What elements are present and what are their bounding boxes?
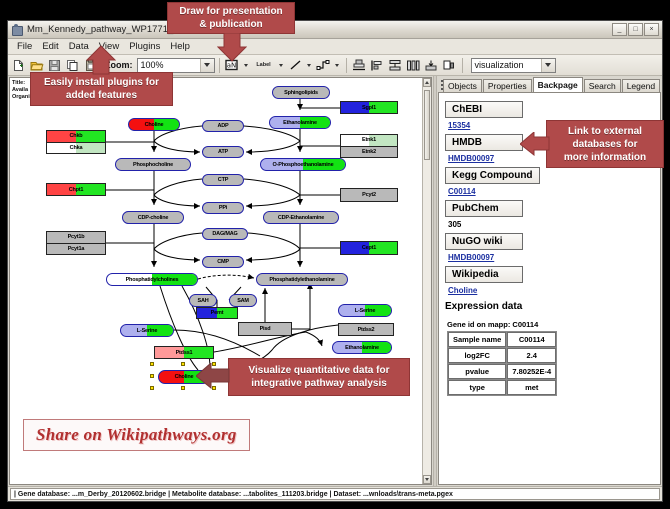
zoom-value: 100% <box>141 60 164 70</box>
node-label: SAM <box>237 298 249 304</box>
pathway-node-gene[interactable]: Ptdss2 <box>338 323 394 336</box>
scroll-down-icon[interactable] <box>423 475 431 484</box>
callout-visualize-arrow-icon <box>196 363 230 389</box>
panel-splitter[interactable] <box>433 76 437 486</box>
node-label: DAG/MAG <box>212 231 237 237</box>
node-label: Choline <box>145 122 164 128</box>
label-icon[interactable]: Label <box>252 57 276 74</box>
cell-key: log2FC <box>448 348 506 363</box>
menu-edit[interactable]: Edit <box>37 40 63 53</box>
pathway-node-metabolite[interactable]: L-Serine <box>120 324 174 337</box>
side-tabrow: Objects Properties Backpage Search Legen… <box>438 77 661 93</box>
gene-row[interactable]: Pcyt1b <box>47 232 105 244</box>
callout-visualize-line2: integrative pathway analysis <box>251 377 387 390</box>
window-titlebar: Mm_Kennedy_pathway_WP1771_45176.gpml _ □… <box>8 21 662 39</box>
db-link-wikipedia[interactable]: Choline <box>448 286 660 295</box>
callout-visualize: Visualize quantitative data for integrat… <box>228 358 410 396</box>
callout-share-text: Share on Wikipathways.org <box>36 425 237 444</box>
db-block-wikipedia: Wikipedia Choline <box>445 264 660 295</box>
tab-properties[interactable]: Properties <box>483 79 532 92</box>
align-left-icon[interactable] <box>369 57 386 74</box>
resize-handle[interactable] <box>181 386 185 390</box>
gene-label: Etnk2 <box>362 149 376 155</box>
callout-link: Link to external databases for more info… <box>546 120 664 168</box>
callout-visualize-line1: Visualize quantitative data for <box>249 364 390 377</box>
node-label: CMP <box>217 259 229 265</box>
pathway-node-metabolite[interactable]: CMP <box>202 256 244 268</box>
gene-label: Etnk1 <box>362 137 376 143</box>
distribute-vertical-icon[interactable] <box>387 57 404 74</box>
table-row: type met <box>448 380 556 395</box>
pathway-node-metabolite[interactable]: Choline <box>128 118 180 131</box>
menu-file[interactable]: File <box>12 40 37 53</box>
gene-row[interactable]: Pemt <box>197 308 237 318</box>
pathway-node-metabolite[interactable]: CDP-choline <box>122 211 184 224</box>
gene-row[interactable]: Pcyt2 <box>341 189 397 201</box>
pathway-node-gene[interactable]: Pisd <box>238 322 292 336</box>
gene-label: Pcyt2 <box>362 192 376 198</box>
table-row: log2FC 2.4 <box>448 348 556 363</box>
toolbar-separator-2 <box>346 58 347 73</box>
db-block-kegg: Kegg Compound C00114 <box>445 165 660 196</box>
resize-handle[interactable] <box>181 362 185 366</box>
db-header-kegg: Kegg Compound <box>445 167 540 184</box>
callout-link-line2: databases for <box>572 138 637 151</box>
order-icon[interactable] <box>441 57 458 74</box>
resize-handle[interactable] <box>150 374 154 378</box>
node-label: L-Serine <box>137 328 157 334</box>
pathway-node-metabolite[interactable]: Sphingolipids <box>272 86 330 99</box>
callout-draw-arrow-icon <box>217 33 247 63</box>
scroll-up-icon[interactable] <box>423 78 431 87</box>
tab-search[interactable]: Search <box>584 79 621 92</box>
table-row: Sample name C00114 <box>448 332 556 347</box>
maximize-button[interactable]: □ <box>628 23 643 36</box>
stack-icon[interactable] <box>423 57 440 74</box>
node-label: Phosphatidylcholines <box>126 277 179 283</box>
callout-draw-line1: Draw for presentation <box>179 5 282 18</box>
window-buttons: _ □ × <box>612 23 659 36</box>
cell-key: Sample name <box>448 332 506 347</box>
resize-handle[interactable] <box>150 386 154 390</box>
gene-label: Pisd <box>260 326 271 332</box>
pathway-metadata: Title: Availa Organi <box>12 80 30 101</box>
tab-legend[interactable]: Legend <box>622 79 660 92</box>
db-link-kegg[interactable]: C00114 <box>448 187 660 196</box>
connector-icon[interactable] <box>315 57 332 74</box>
open-folder-icon[interactable] <box>28 57 45 74</box>
callout-link-line1: Link to external <box>568 125 642 138</box>
node-label: ADP <box>217 123 228 129</box>
pathway-node-gene[interactable]: Cept1 <box>340 241 398 255</box>
node-label: Ethanolamine <box>345 345 379 351</box>
meta-title: Title: <box>12 80 30 87</box>
gene-id-label: Gene id on mapp: C00114 <box>447 320 660 329</box>
distribute-horizontal-icon[interactable] <box>405 57 422 74</box>
pathway-node-gene[interactable]: Pcyt2 <box>340 188 398 202</box>
callout-plugins: Easily install plugins for added feature… <box>30 72 173 106</box>
align-bottom-icon[interactable] <box>351 57 368 74</box>
db-block-nugo: NuGO wiki HMDB00097 <box>445 231 660 262</box>
line-dropdown-icon[interactable] <box>305 57 314 74</box>
menu-help[interactable]: Help <box>165 40 195 53</box>
callout-link-line3: more information <box>564 151 646 164</box>
save-icon[interactable] <box>46 57 63 74</box>
callout-plugins-arrow-icon <box>86 45 116 75</box>
pathway-node-gene[interactable]: Pemt <box>196 307 238 319</box>
callout-plugins-line2: added features <box>66 89 137 102</box>
visualization-combo[interactable]: visualization <box>471 58 556 73</box>
gene-label: Chpt1 <box>69 187 84 193</box>
toolbar-separator-3 <box>462 58 463 73</box>
pathway-node-metabolite[interactable]: DAG/MAG <box>202 228 248 240</box>
gene-row[interactable]: Pisd <box>239 323 291 335</box>
new-file-icon[interactable] <box>10 57 27 74</box>
callout-draw-line2: & publication <box>199 18 262 31</box>
pathway-node-gene[interactable]: Pcyt1bPcyt1a <box>46 231 106 255</box>
node-label: Sphingolipids <box>284 90 318 96</box>
pathway-node-metabolite[interactable]: SAM <box>229 294 257 307</box>
resize-handle[interactable] <box>150 362 154 366</box>
db-value-pubchem: 305 <box>448 220 660 229</box>
gene-label: Ptdss1 <box>176 350 193 356</box>
node-label: Ethanolamine <box>283 120 317 126</box>
pathway-node-gene[interactable]: Sgpl1 <box>340 101 398 114</box>
status-text: | Gene database: ...m_Derby_20120602.bri… <box>10 488 660 500</box>
pathway-app-icon <box>11 24 23 36</box>
pathway-node-metabolite[interactable]: SAH <box>189 294 217 307</box>
pathway-node-metabolite[interactable]: Ethanolamine <box>269 116 331 129</box>
pathway-node-metabolite[interactable]: ADP <box>202 120 244 132</box>
pathway-node-metabolite[interactable]: CTP <box>202 174 244 186</box>
callout-plugins-line1: Easily install plugins for <box>44 76 159 89</box>
pathway-node-gene[interactable]: Etnk1Etnk2 <box>340 134 398 158</box>
pathway-node-gene[interactable]: Ptdss1 <box>154 346 214 359</box>
cell-value: 2.4 <box>507 348 556 363</box>
gene-row[interactable]: Etnk2 <box>341 147 397 158</box>
gene-row[interactable]: Etnk1 <box>341 135 397 147</box>
db-header-pubchem: PubChem <box>445 200 523 217</box>
gene-label: Chkb <box>70 133 83 139</box>
pathway-node-gene[interactable]: Chpt1 <box>46 183 106 196</box>
pathway-node-gene[interactable]: ChkbChka <box>46 130 106 154</box>
connector-dropdown-icon[interactable] <box>333 57 342 74</box>
cell-key: type <box>448 380 506 395</box>
meta-availability: Availa <box>12 87 30 94</box>
zoom-combo[interactable]: 100% <box>137 58 215 73</box>
chevron-down-icon[interactable] <box>200 59 214 72</box>
pathway-node-metabolite[interactable]: PPi <box>202 202 244 214</box>
cell-value: C00114 <box>507 332 556 347</box>
node-label: Phosphocholine <box>133 162 173 168</box>
pathway-node-metabolite[interactable]: ATP <box>202 146 244 158</box>
canvas-vertical-scrollbar[interactable] <box>422 78 431 484</box>
table-row: pvalue 7.80252E-4 <box>448 364 556 379</box>
db-link-nugo[interactable]: HMDB00097 <box>448 253 660 262</box>
node-label: Choline <box>175 374 194 380</box>
pathway-node-metabolite[interactable]: Ethanolamine <box>332 341 392 354</box>
gene-row[interactable]: Ptdss1 <box>155 347 213 358</box>
minimize-button[interactable]: _ <box>612 23 627 36</box>
gene-row[interactable]: Chpt1 <box>47 184 105 195</box>
node-label: CTP <box>218 177 228 183</box>
scrollbar-thumb[interactable] <box>424 90 430 160</box>
gene-label: Pcyt1a <box>68 246 85 252</box>
db-header-wikipedia: Wikipedia <box>445 266 523 283</box>
pathway-node-metabolite[interactable]: Phosphatidylcholines <box>106 273 198 286</box>
gene-label: Ptdss2 <box>358 327 375 333</box>
gene-row[interactable]: Sgpl1 <box>341 102 397 113</box>
node-label: O-Phosphoethanolamine <box>273 162 334 168</box>
callout-draw: Draw for presentation & publication <box>167 2 295 34</box>
callout-share: Share on Wikipathways.org <box>23 419 250 451</box>
pathway-node-metabolite[interactable]: Phosphatidylethanolamine <box>256 273 348 286</box>
pathway-node-metabolite[interactable]: Phosphocholine <box>115 158 191 171</box>
screenshot-root: Mm_Kennedy_pathway_WP1771_45176.gpml _ □… <box>0 0 670 509</box>
gene-label: Pemt <box>211 310 224 316</box>
node-label: SAH <box>197 298 208 304</box>
db-header-hmdb: HMDB <box>445 134 523 151</box>
pathway-node-metabolite[interactable]: CDP-Ethanolamine <box>263 211 339 224</box>
gene-row[interactable]: Cept1 <box>341 242 397 254</box>
tab-objects[interactable]: Objects <box>443 79 482 92</box>
tab-backpage[interactable]: Backpage <box>533 77 583 92</box>
gene-label: Pcyt1b <box>68 234 85 240</box>
db-block-pubchem: PubChem 305 <box>445 198 660 229</box>
gene-label: Sgpl1 <box>362 105 376 111</box>
gene-label: Cept1 <box>362 245 376 251</box>
gene-row[interactable]: Chka <box>47 143 105 154</box>
node-label: L-Serine <box>355 308 375 314</box>
visualization-value: visualization <box>475 60 524 70</box>
node-label: CDP-Ethanolamine <box>278 215 324 221</box>
pathway-node-metabolite[interactable]: L-Serine <box>338 304 392 317</box>
expression-data-title: Expression data <box>445 301 660 312</box>
gene-row[interactable]: Ptdss2 <box>339 324 393 335</box>
node-label: ATP <box>218 149 228 155</box>
gene-label: Chka <box>70 145 83 151</box>
statusbar: | Gene database: ...m_Derby_20120602.bri… <box>8 486 662 501</box>
cell-value: met <box>507 380 556 395</box>
db-header-nugo: NuGO wiki <box>445 233 523 250</box>
label-dropdown-icon[interactable] <box>277 57 286 74</box>
expression-table: Sample name C00114 log2FC 2.4 pvalue 7.8… <box>447 331 557 396</box>
meta-organism: Organi <box>12 94 30 101</box>
copy-icon[interactable] <box>64 57 81 74</box>
close-button[interactable]: × <box>644 23 659 36</box>
node-label: CDP-choline <box>138 215 169 221</box>
chevron-down-icon-2[interactable] <box>541 59 555 72</box>
node-label: Phosphatidylethanolamine <box>269 277 334 283</box>
pathway-node-metabolite[interactable]: O-Phosphoethanolamine <box>260 158 346 171</box>
node-label: PPi <box>219 205 227 211</box>
db-header-chebi: ChEBI <box>445 101 523 118</box>
cell-key: pvalue <box>448 364 506 379</box>
line-icon[interactable] <box>287 57 304 74</box>
callout-link-arrow-icon <box>520 132 550 156</box>
cell-value: 7.80252E-4 <box>507 364 556 379</box>
gene-row[interactable]: Pcyt1a <box>47 244 105 255</box>
gene-row[interactable]: Chkb <box>47 131 105 143</box>
menu-plugins[interactable]: Plugins <box>124 40 165 53</box>
